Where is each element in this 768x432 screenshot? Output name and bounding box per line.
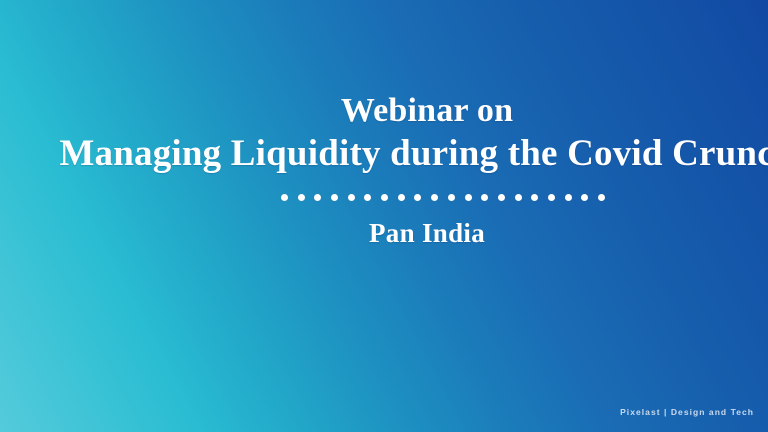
divider-dot	[548, 194, 555, 201]
divider-dot	[431, 194, 438, 201]
divider-dot	[481, 194, 488, 201]
divider-dot	[448, 194, 455, 201]
divider-dot	[298, 194, 305, 201]
divider-dot	[565, 194, 572, 201]
page-title-line-2: Managing Liquidity during the Covid Crun…	[59, 133, 768, 174]
banner-content: Webinar on Managing Liquidity during the…	[0, 0, 768, 432]
divider-dot	[498, 194, 505, 201]
footer-credit: Pixelast | Design and Tech	[620, 407, 754, 417]
divider-dot	[348, 194, 355, 201]
divider-dot	[598, 194, 605, 201]
dot-divider	[281, 194, 605, 201]
divider-dot	[364, 194, 371, 201]
divider-dot	[531, 194, 538, 201]
divider-dot	[581, 194, 588, 201]
divider-dot	[331, 194, 338, 201]
page-title-line-1: Webinar on	[341, 92, 513, 130]
divider-dot	[281, 194, 288, 201]
banner-subtitle: Pan India	[369, 218, 485, 249]
divider-dot	[398, 194, 405, 201]
divider-dot	[314, 194, 321, 201]
divider-dot	[414, 194, 421, 201]
webinar-banner-slide: Webinar on Managing Liquidity during the…	[0, 0, 768, 432]
divider-dot	[465, 194, 472, 201]
divider-dot	[515, 194, 522, 201]
divider-dot	[381, 194, 388, 201]
